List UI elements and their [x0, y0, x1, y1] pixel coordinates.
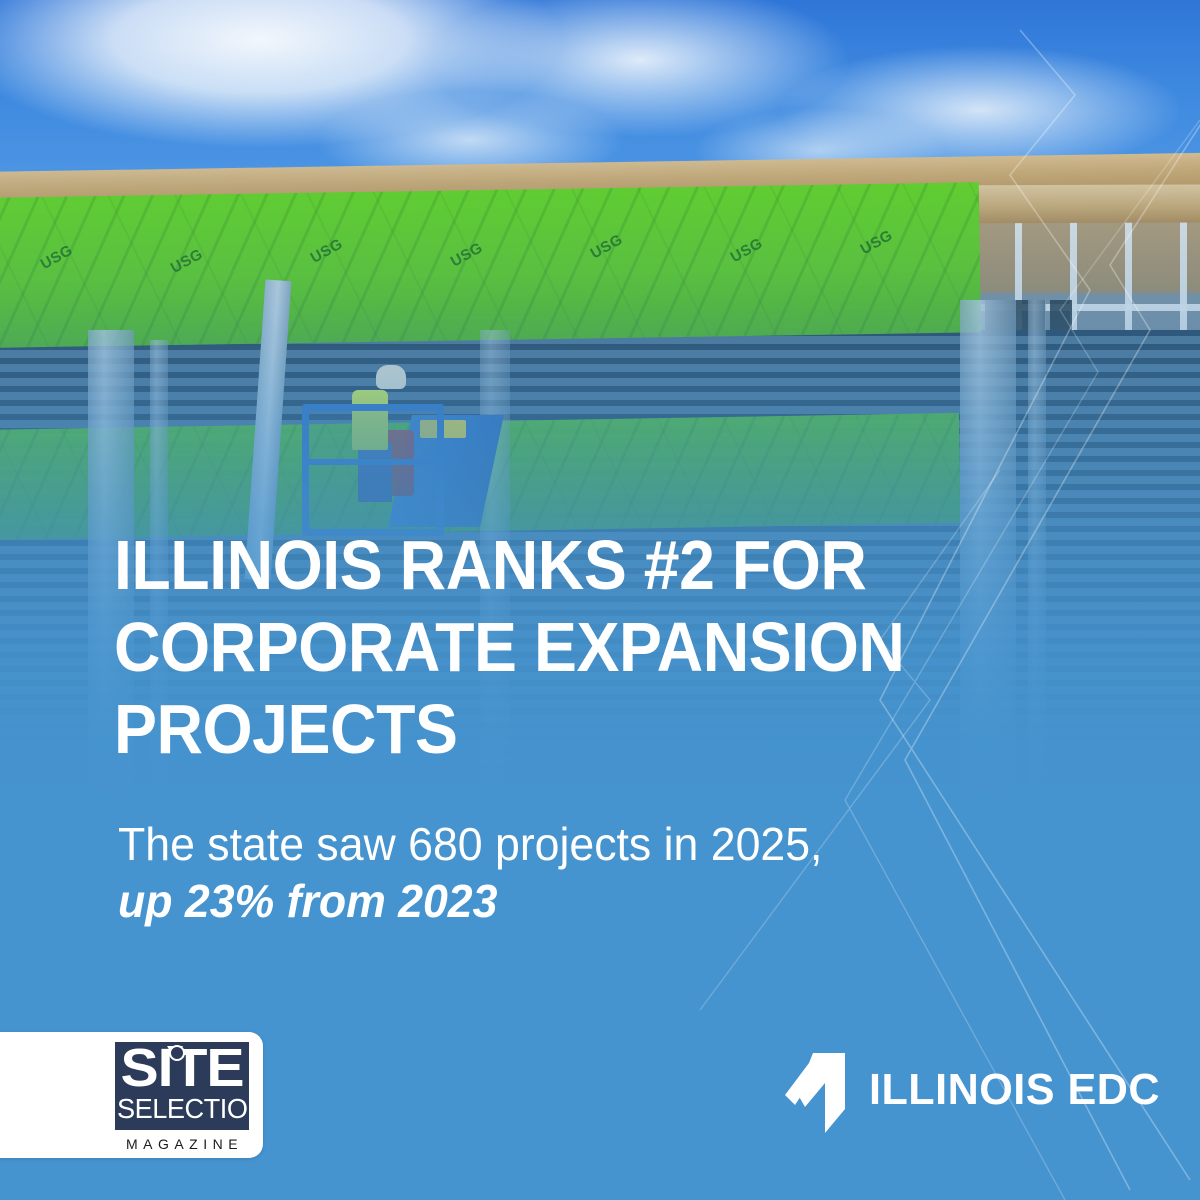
site-selection-logo-panel: SITE SELECTION MAGAZINE: [0, 1032, 263, 1158]
page-title: ILLINOIS RANKS #2 FOR CORPORATE EXPANSIO…: [114, 524, 924, 770]
location-pin-icon: [167, 1046, 183, 1059]
subheading-line-2: up 23% from 2023: [118, 873, 991, 930]
illinois-edc-logo: ILLINOIS EDC: [783, 1046, 1166, 1134]
site-selection-logo: SITE SELECTION MAGAZINE: [115, 1042, 249, 1152]
site-selection-word-magazine: MAGAZINE: [115, 1136, 249, 1152]
site-selection-navy-box: SITE SELECTION: [115, 1042, 249, 1130]
illinois-edc-wordmark: ILLINOIS EDC: [869, 1065, 1160, 1115]
subheading-line-1: The state saw 680 projects in 2025,: [118, 816, 991, 873]
chevron-arrow-mark-icon: [783, 1047, 853, 1133]
social-graphic-canvas: USG USG USG USG USG USG USG: [0, 0, 1200, 1200]
site-selection-word-selection: SELECTION: [117, 1094, 247, 1124]
subheading: The state saw 680 projects in 2025, up 2…: [118, 816, 991, 930]
